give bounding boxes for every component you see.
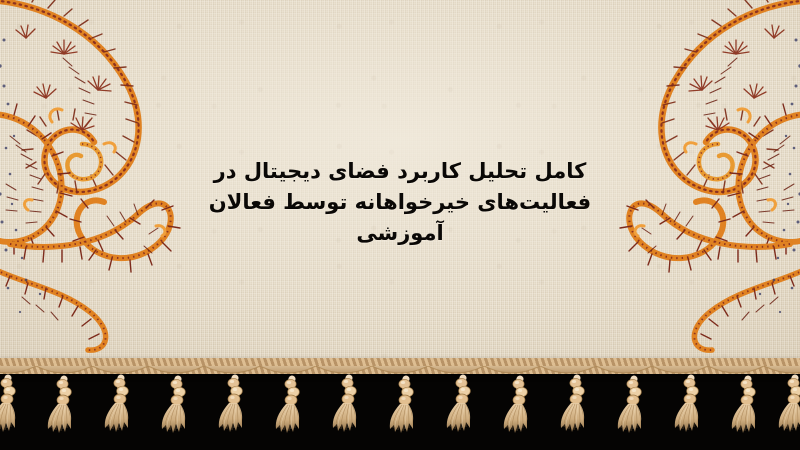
title-line-3: آموزشی — [0, 218, 800, 249]
title-line-2: فعالیت‌های خیرخواهانه توسط فعالان — [0, 187, 800, 218]
slide-title: کامل تحلیل کاربرد فضای دیجیتال در فعالیت… — [0, 156, 800, 249]
knotted-tassel-fringe — [0, 366, 800, 450]
slide-canvas: کامل تحلیل کاربرد فضای دیجیتال در فعالیت… — [0, 0, 800, 450]
title-line-1: کامل تحلیل کاربرد فضای دیجیتال در — [0, 156, 800, 187]
